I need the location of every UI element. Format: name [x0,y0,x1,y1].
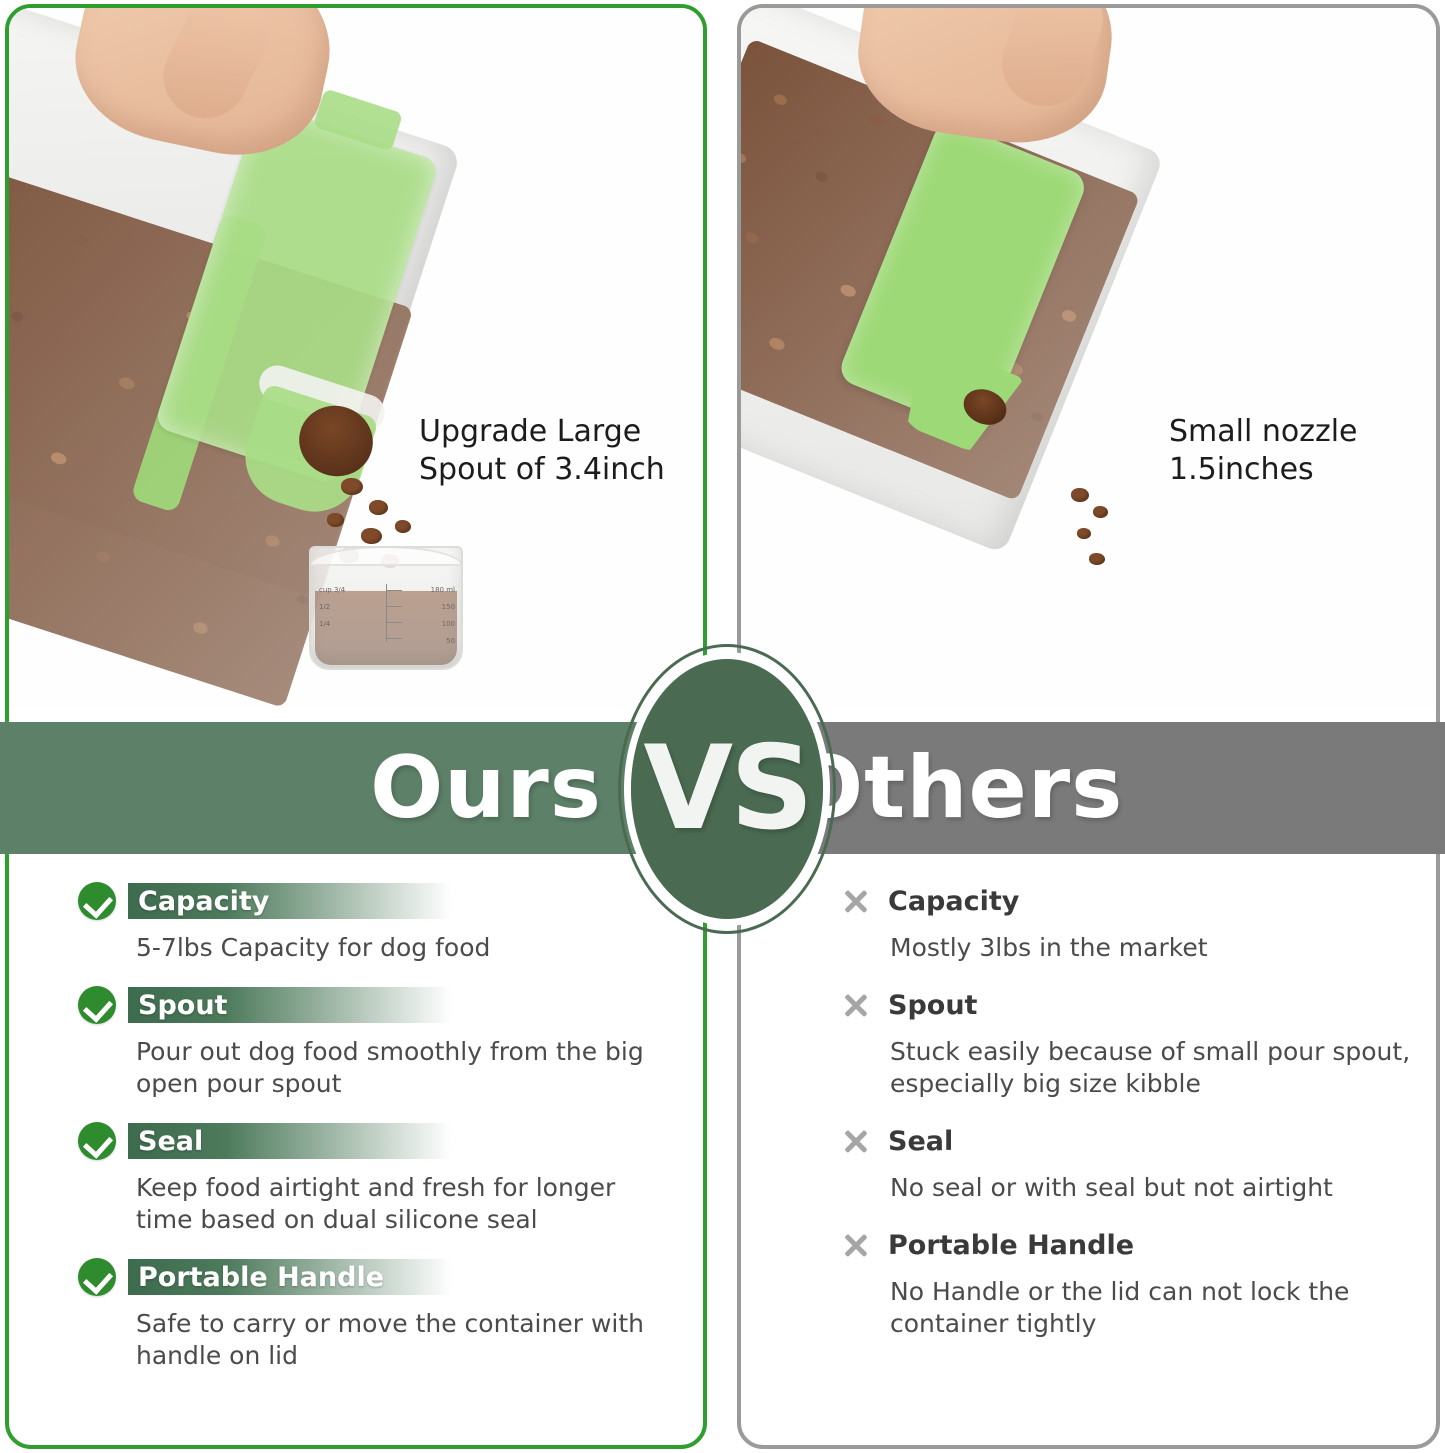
feature-item: Seal No seal or with seal but not airtig… [838,1120,1418,1204]
feature-item: Capacity Mostly 3lbs in the market [838,880,1418,964]
feature-title-plain: Portable Handle [888,1230,1134,1261]
feature-title: Spout [888,990,977,1021]
feature-title: Seal [888,1126,953,1157]
feature-description: Mostly 3lbs in the market [890,932,1418,964]
feature-item: Spout Pour out dog food smoothly from th… [78,984,678,1100]
others-annotation-line1: Small nozzle [1169,413,1358,451]
falling-kibble [395,520,411,533]
ours-annotation-line1: Upgrade Large [419,413,665,451]
x-icon [838,1122,874,1160]
feature-title-plain: Seal [888,1126,953,1157]
feature-title: Seal [138,1126,203,1157]
ours-annotation: Upgrade Large Spout of 3.4inch [419,413,665,488]
x-icon [838,986,874,1024]
feature-item: Portable Handle Safe to carry or move th… [78,1256,678,1372]
check-icon [78,882,116,920]
feature-item: Seal Keep food airtight and fresh for lo… [78,1120,678,1236]
vs-label: VS [643,731,810,847]
feature-description: No Handle or the lid can not lock the co… [890,1276,1418,1340]
x-icon [838,1226,874,1264]
falling-kibble [1071,488,1089,502]
falling-kibble [369,500,388,515]
feature-description: No seal or with seal but not airtight [890,1172,1418,1204]
falling-kibble [1089,553,1105,565]
falling-kibble [1093,506,1108,518]
ours-annotation-line2: Spout of 3.4inch [419,451,665,489]
others-annotation-line2: 1.5inches [1169,451,1358,489]
cup-rim [309,546,463,566]
feature-title-bar: Capacity [128,883,452,919]
feature-title-plain: Capacity [888,886,1019,917]
falling-kibble [341,478,363,495]
feature-title: Capacity [888,886,1019,917]
others-annotation: Small nozzle 1.5inches [1169,413,1358,488]
feature-title: Portable Handle [888,1230,1134,1261]
feature-item: Capacity 5-7lbs Capacity for dog food [78,880,678,964]
feature-item: Portable Handle No Handle or the lid can… [838,1224,1418,1340]
falling-kibble [1077,528,1091,539]
feature-description: Pour out dog food smoothly from the big … [136,1036,678,1100]
comparison-infographic: cup 3/4 1/2 1/4 180 ml 150 100 50 Upgrad… [0,0,1445,1453]
x-icon [838,882,874,920]
feature-description: Safe to carry or move the container with… [136,1308,678,1372]
falling-kibble [327,513,344,527]
ours-banner-label: Ours [0,722,660,854]
ours-feature-list: Capacity 5-7lbs Capacity for dog food Sp… [78,880,678,1392]
feature-description: Keep food airtight and fresh for longer … [136,1172,678,1236]
feature-description: 5-7lbs Capacity for dog food [136,932,678,964]
feature-title-bar: Portable Handle [128,1259,452,1295]
feature-title: Capacity [138,886,269,917]
feature-title-bar: Spout [128,987,452,1023]
check-icon [78,1122,116,1160]
others-feature-list: Capacity Mostly 3lbs in the market Spout… [838,880,1418,1360]
check-icon [78,986,116,1024]
feature-item: Spout Stuck easily because of small pour… [838,984,1418,1100]
feature-title: Portable Handle [138,1262,384,1293]
cup-marks-ml: 180 ml 150 100 50 [431,582,455,650]
feature-description: Stuck easily because of small pour spout… [890,1036,1418,1100]
ours-product-photo: cup 3/4 1/2 1/4 180 ml 150 100 50 Upgrad… [9,8,703,708]
measuring-cup-ours: cup 3/4 1/2 1/4 180 ml 150 100 50 [309,546,463,670]
others-banner-label: Others [790,722,1445,854]
feature-title-bar: Seal [128,1123,452,1159]
check-icon [78,1258,116,1296]
feature-title-plain: Spout [888,990,977,1021]
feature-title: Spout [138,990,227,1021]
falling-kibble [361,528,382,544]
others-product-photo: fl oz 6 4 2 3/4 cup 180 ml Small nozzle … [741,8,1436,708]
